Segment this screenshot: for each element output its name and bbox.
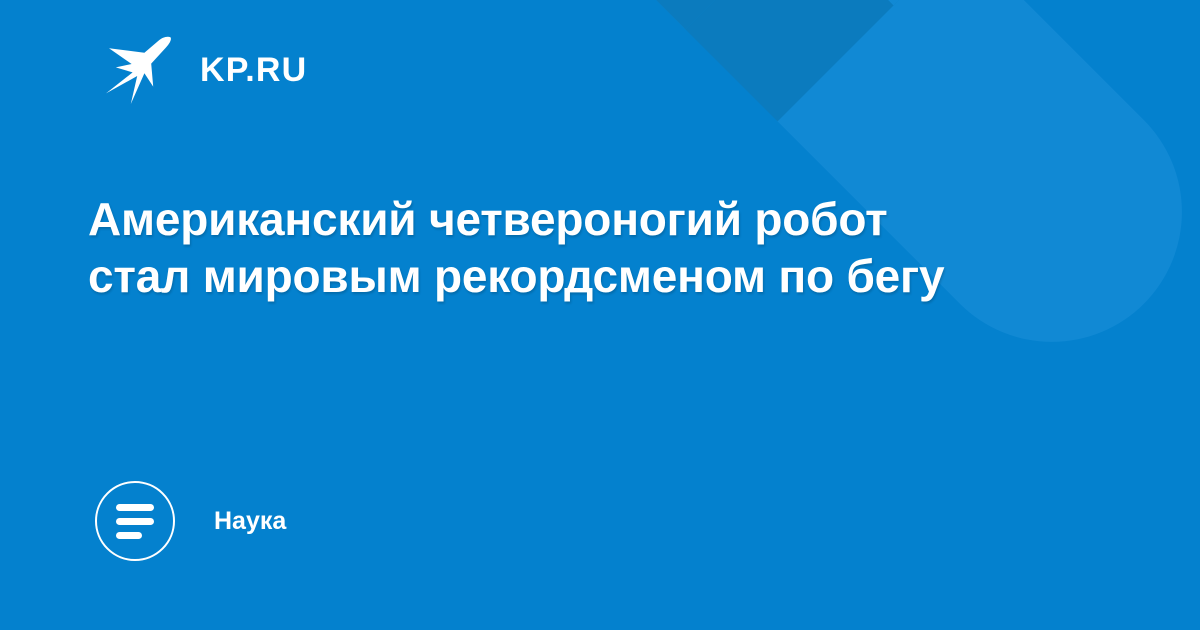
brand-name: KP.RU bbox=[200, 53, 307, 87]
hamburger-line-1 bbox=[116, 504, 154, 511]
brand-logo[interactable]: KP.RU bbox=[104, 34, 307, 106]
rubric-label: Наука bbox=[214, 509, 286, 534]
hamburger-line-3 bbox=[116, 532, 142, 539]
swallow-bird-icon bbox=[104, 34, 172, 106]
hamburger-lines-icon bbox=[95, 481, 175, 561]
hamburger-line-2 bbox=[116, 518, 154, 525]
headline: Американский четвероногий робот стал мир… bbox=[88, 191, 968, 305]
rubric[interactable]: Наука bbox=[95, 481, 286, 561]
share-card: KP.RU Американский четвероногий робот ст… bbox=[0, 0, 1200, 630]
